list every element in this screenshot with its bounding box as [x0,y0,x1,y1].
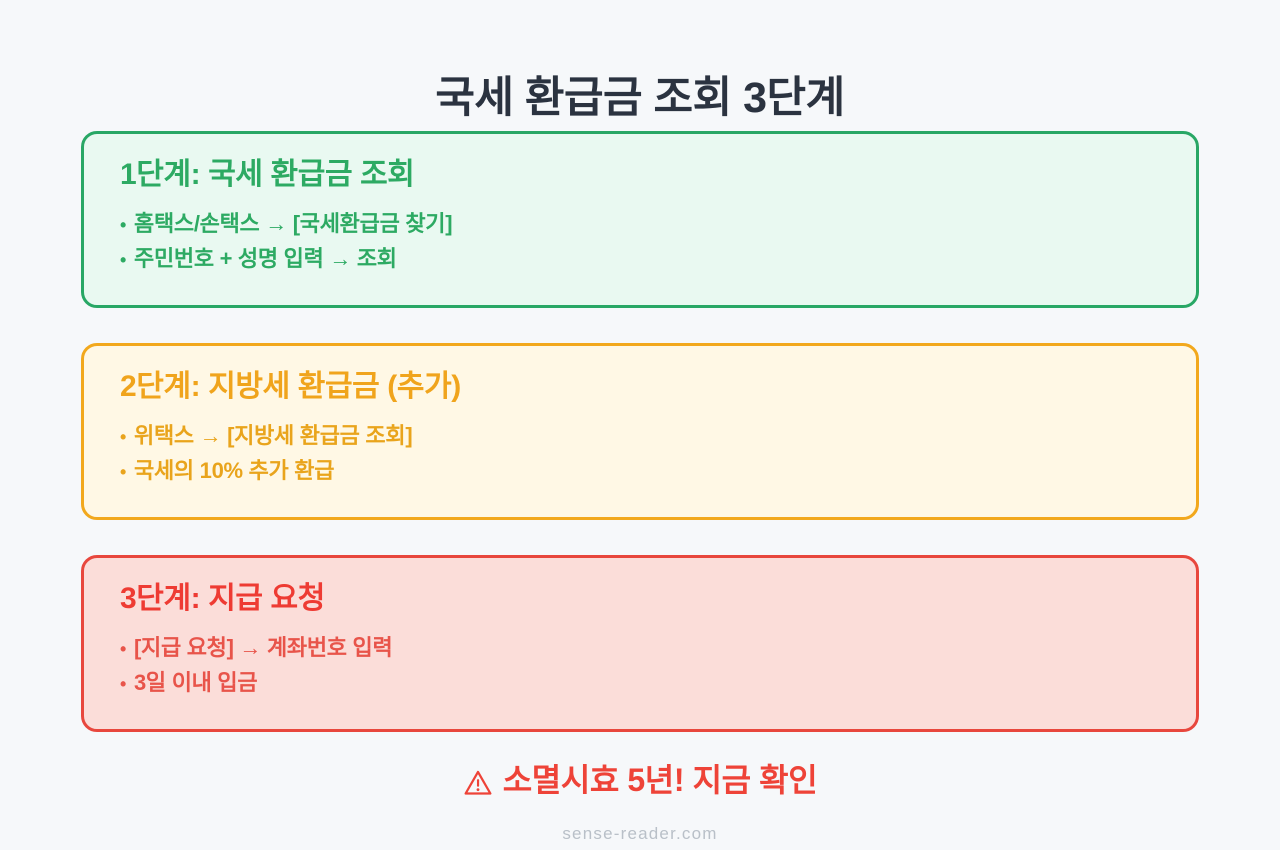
step-2-bullet-list: • 위택스 → [지방세 환급금 조회] • 국세의 10% 추가 환급 [120,418,1160,489]
step-card-3: 3단계: 지급 요청 • [지급 요청] → 계좌번호 입력 • 3일 이내 입… [81,555,1199,732]
step-3-bullet-1: • 3일 이내 입금 [120,665,1160,701]
step-1-bullet-1: • 주민번호 + 성명 입력 → 조회 [120,241,1160,277]
bullet-dot-icon: • [120,458,134,487]
bullet-dot-icon: • [120,635,134,664]
step-1-bullet-0-text: 홈택스/손택스 → [국세환급금 찾기] [134,206,452,242]
step-2-bullet-0-text: 위택스 → [지방세 환급금 조회] [134,418,412,454]
step-3-heading: 3단계: 지급 요청 [120,580,1160,618]
step-3-bullet-0: • [지급 요청] → 계좌번호 입력 [120,630,1160,666]
step-2-heading: 2단계: 지방세 환급금 (추가) [120,368,1160,406]
step-2-bullet-1: • 국세의 10% 추가 환급 [120,453,1160,489]
step-2-bullet-1-text: 국세의 10% 추가 환급 [134,453,334,489]
bullet-dot-icon: • [120,423,134,452]
bullet-dot-icon: • [120,246,134,275]
infographic-root: 국세 환급금 조회 3단계 1단계: 국세 환급금 조회 • 홈택스/손택스 →… [0,0,1280,850]
step-2-bullet-0: • 위택스 → [지방세 환급금 조회] [120,418,1160,454]
footer-warning: 소멸시효 5년! 지금 확인 [0,760,1280,802]
steps-container: 1단계: 국세 환급금 조회 • 홈택스/손택스 → [국세환급금 찾기] • … [81,131,1199,732]
page-title: 국세 환급금 조회 3단계 [0,73,1280,125]
step-3-bullet-0-text: [지급 요청] → 계좌번호 입력 [134,630,392,666]
watermark: sense-reader.com [0,824,1280,844]
step-1-bullet-0: • 홈택스/손택스 → [국세환급금 찾기] [120,206,1160,242]
step-card-1: 1단계: 국세 환급금 조회 • 홈택스/손택스 → [국세환급금 찾기] • … [81,131,1199,308]
step-1-bullet-list: • 홈택스/손택스 → [국세환급금 찾기] • 주민번호 + 성명 입력 → … [120,206,1160,277]
warning-triangle-icon [463,767,493,797]
step-card-2: 2단계: 지방세 환급금 (추가) • 위택스 → [지방세 환급금 조회] •… [81,343,1199,520]
footer-warning-text: 소멸시효 5년! 지금 확인 [503,760,818,802]
bullet-dot-icon: • [120,670,134,699]
step-3-bullet-list: • [지급 요청] → 계좌번호 입력 • 3일 이내 입금 [120,630,1160,701]
step-1-heading: 1단계: 국세 환급금 조회 [120,156,1160,194]
step-3-bullet-1-text: 3일 이내 입금 [134,665,257,701]
step-1-bullet-1-text: 주민번호 + 성명 입력 → 조회 [134,241,397,277]
bullet-dot-icon: • [120,211,134,240]
